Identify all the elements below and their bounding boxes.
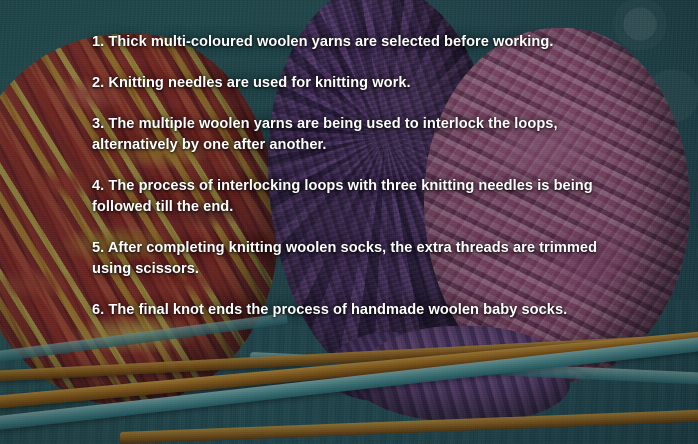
step-item-3: 3. The multiple woolen yarns are being u…: [92, 114, 598, 156]
step-item-2: 2. Knitting needles are used for knittin…: [92, 73, 598, 94]
infographic-canvas: 1. Thick multi-coloured woolen yarns are…: [0, 0, 698, 444]
step-item-4: 4. The process of interlocking loops wit…: [92, 176, 598, 218]
step-item-6: 6. The final knot ends the process of ha…: [92, 300, 598, 321]
step-item-1: 1. Thick multi-coloured woolen yarns are…: [92, 32, 598, 53]
steps-list: 1. Thick multi-coloured woolen yarns are…: [92, 32, 598, 336]
step-item-5: 5. After completing knitting woolen sock…: [92, 238, 598, 280]
